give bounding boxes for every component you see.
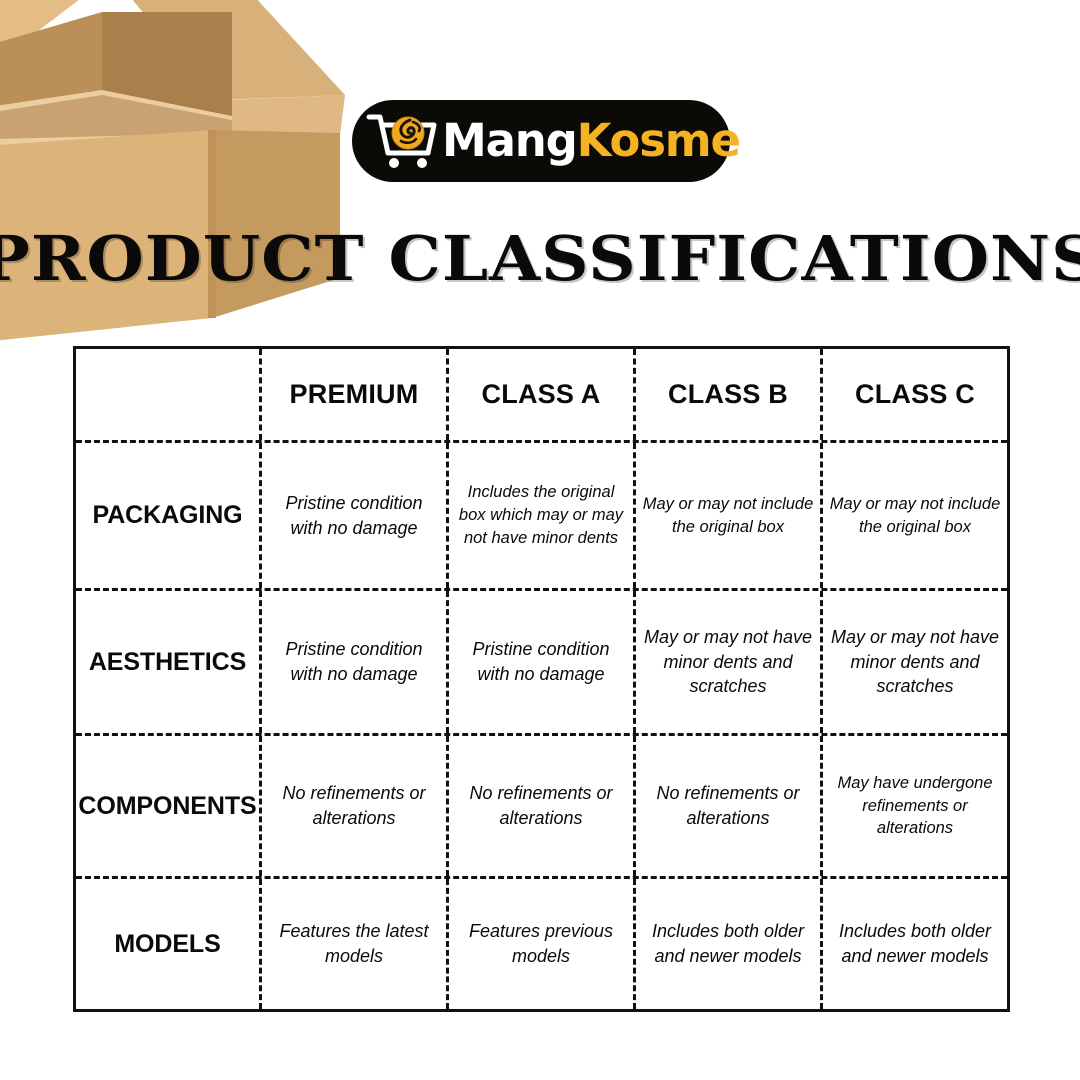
cell-text: Features the latest models <box>268 919 440 969</box>
cell-packaging-premium: Pristine condition with no damage <box>259 443 446 588</box>
row-label-text: PACKAGING <box>92 501 242 530</box>
cell-text: Includes both older and newer models <box>829 919 1001 969</box>
column-header-label: CLASS A <box>482 379 601 410</box>
table-row-aesthetics: AESTHETICS Pristine condition with no da… <box>76 588 1007 733</box>
cell-aesthetics-class-b: May or may not have minor dents and scra… <box>633 591 820 733</box>
table-header-row: PREMIUM CLASS A CLASS B CLASS C <box>76 349 1007 440</box>
cell-components-class-b: No refinements or alterations <box>633 736 820 876</box>
cell-packaging-class-c: May or may not include the original box <box>820 443 1007 588</box>
cell-text: Includes both older and newer models <box>642 919 814 969</box>
column-header-label: PREMIUM <box>290 379 419 410</box>
cell-text: May or may not have minor dents and scra… <box>829 625 1001 699</box>
cell-text: Pristine condition with no damage <box>268 491 440 541</box>
table-row-packaging: PACKAGING Pristine condition with no dam… <box>76 440 1007 588</box>
cell-components-class-a: No refinements or alterations <box>446 736 633 876</box>
cell-text: Features previous models <box>455 919 627 969</box>
box-interior-left <box>0 12 102 118</box>
row-label-text: AESTHETICS <box>89 648 246 677</box>
cell-text: No refinements or alterations <box>642 781 814 831</box>
box-flap-left <box>0 0 105 60</box>
box-interior-back <box>102 12 232 120</box>
table-row-components: COMPONENTS No refinements or alterations… <box>76 733 1007 876</box>
column-header-label: CLASS B <box>668 379 788 410</box>
column-header-class-b: CLASS B <box>633 349 820 440</box>
column-header-premium: PREMIUM <box>259 349 446 440</box>
cell-text: May or may not have minor dents and scra… <box>642 625 814 699</box>
column-header-label: CLASS C <box>855 379 975 410</box>
cell-components-class-c: May have undergone refinements or altera… <box>820 736 1007 876</box>
column-header-class-a: CLASS A <box>446 349 633 440</box>
cell-text: No refinements or alterations <box>455 781 627 831</box>
cell-aesthetics-premium: Pristine condition with no damage <box>259 591 446 733</box>
box-flap-back <box>108 0 345 100</box>
cell-components-premium: No refinements or alterations <box>259 736 446 876</box>
cell-models-class-c: Includes both older and newer models <box>820 879 1007 1009</box>
table-row-models: MODELS Features the latest models Featur… <box>76 876 1007 1009</box>
brand-wordmark: MangKosme <box>442 118 740 163</box>
cell-text: May or may not include the original box <box>642 493 814 539</box>
row-label-components: COMPONENTS <box>76 736 259 876</box>
row-label-aesthetics: AESTHETICS <box>76 591 259 733</box>
column-header-class-c: CLASS C <box>820 349 1007 440</box>
brand-wordmark-part1: Mang <box>442 114 577 167</box>
cell-text: May or may not include the original box <box>829 493 1001 539</box>
box-rim-top <box>0 90 232 148</box>
page-title: PRODUCT CLASSIFICATIONS <box>0 222 1080 295</box>
row-label-models: MODELS <box>76 879 259 1009</box>
flame-swirl-icon <box>392 117 424 149</box>
shopping-cart-icon <box>366 110 440 172</box>
cell-text: Pristine condition with no damage <box>268 637 440 687</box>
cell-aesthetics-class-a: Pristine condition with no damage <box>446 591 633 733</box>
logo-icon-group <box>366 110 440 172</box>
cell-text: Pristine condition with no damage <box>455 637 627 687</box>
cell-models-class-b: Includes both older and newer models <box>633 879 820 1009</box>
cell-aesthetics-class-c: May or may not have minor dents and scra… <box>820 591 1007 733</box>
cell-packaging-class-b: May or may not include the original box <box>633 443 820 588</box>
cell-text: May have undergone refinements or altera… <box>829 772 1001 840</box>
cell-text: No refinements or alterations <box>268 781 440 831</box>
row-label-text: COMPONENTS <box>78 792 256 821</box>
brand-wordmark-part2: Kosme <box>577 114 740 167</box>
cell-models-class-a: Features previous models <box>446 879 633 1009</box>
product-classification-table: PREMIUM CLASS A CLASS B CLASS C PACKAGIN… <box>73 346 1010 1012</box>
cell-models-premium: Features the latest models <box>259 879 446 1009</box>
box-inner-shadow <box>0 95 232 140</box>
box-flap-right <box>222 95 345 135</box>
row-label-packaging: PACKAGING <box>76 443 259 588</box>
cell-text: Includes the original box which may or m… <box>455 481 627 549</box>
cell-packaging-class-a: Includes the original box which may or m… <box>446 443 633 588</box>
row-label-text: MODELS <box>114 930 220 959</box>
brand-logo: MangKosme <box>352 100 730 182</box>
table-corner-cell <box>76 349 259 440</box>
